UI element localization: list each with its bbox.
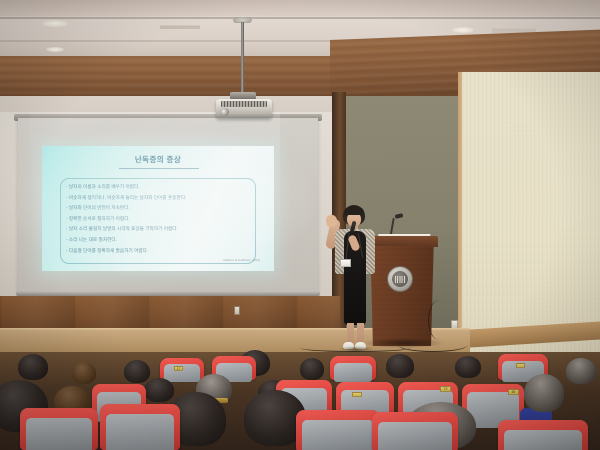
audience-head [566, 358, 596, 384]
presenter [322, 205, 388, 353]
near-side-wall [462, 72, 600, 354]
projector-drop-pole [241, 22, 244, 98]
slide-bullet: - 날자 소리 몰릴지 낱말의 시각적 표상을 기억하기 어렵다. [66, 224, 256, 235]
seat-number-plate [516, 363, 525, 368]
wall-outlet [234, 306, 240, 315]
recessed-light-icon [452, 27, 474, 33]
seat-number-plate: 73 [440, 386, 451, 392]
ceiling-seam [0, 17, 600, 19]
slide-bullet: - 날자의 이름과 소리를 배우기 어렵다. [66, 182, 256, 193]
slide-bullet: - 다음절 단어를 정확하게 발음하기 어렵다. [66, 246, 256, 257]
slide-title-underline [119, 168, 199, 169]
slide-bullet: - 비슷하게 생기거나, 비슷하게 들리는 날자와 단어를 혼동한다. [66, 193, 256, 204]
seat-panel[interactable] [378, 422, 452, 450]
emblem-inner-disc [392, 271, 408, 287]
projector-vent-grille [221, 101, 267, 107]
audience-head [18, 354, 48, 380]
slide-bullet: - 소리 나는 대로 철자한다. [66, 235, 256, 246]
audience-head [300, 358, 324, 380]
seat-panel[interactable] [302, 420, 374, 450]
audience-head [455, 356, 481, 378]
seat-number-plate: 17 [174, 366, 183, 371]
seat-number-plate [352, 392, 362, 397]
audience-head [144, 378, 174, 402]
projected-slide: 난독증의 증상 - 날자의 이름과 소리를 배우기 어렵다. - 비슷하게 생기… [42, 146, 274, 271]
seat-number-plate: 69 [508, 389, 519, 395]
seat-panel[interactable] [106, 414, 174, 450]
slide-bullet: - 날자와 단어의 반전이 지속된다. [66, 203, 256, 214]
slide-bullet: - 정확한 순서로 철자하기 어렵다. [66, 214, 256, 225]
slide-citation: (Mather & Goldberg, 2012) [223, 258, 260, 262]
recessed-light-icon [46, 47, 64, 52]
audience-head [386, 354, 414, 378]
podium-crest-emblem-icon [387, 266, 413, 292]
slide-title: 난독증의 증상 [42, 154, 274, 165]
slide-bullet-list: - 날자의 이름과 소리를 배우기 어렵다. - 비슷하게 생기거나, 비슷하게… [66, 182, 256, 256]
lecture-hall-photo: 난독증의 증상 - 날자의 이름과 소리를 배우기 어렵다. - 비슷하게 생기… [0, 0, 600, 450]
seat-panel[interactable] [26, 418, 92, 450]
presenter-raised-hand [325, 214, 338, 227]
ceiling-vent [160, 25, 200, 29]
audience-head [524, 374, 564, 412]
seat-panel[interactable] [334, 363, 372, 382]
ceiling-band [0, 0, 600, 16]
presenter-name-badge [340, 259, 351, 267]
wood-wainscot-panel [0, 296, 340, 332]
presenter-fringe [344, 207, 364, 215]
emblem-columns-motif [395, 276, 406, 283]
audience-head [124, 360, 150, 383]
seat-panel[interactable] [504, 430, 582, 450]
audience-seating: 17 73 69 [0, 346, 600, 450]
recessed-light-icon [42, 20, 68, 27]
audience-head [72, 362, 96, 384]
projector-lens-icon [220, 108, 229, 116]
wall-cable [428, 300, 450, 340]
